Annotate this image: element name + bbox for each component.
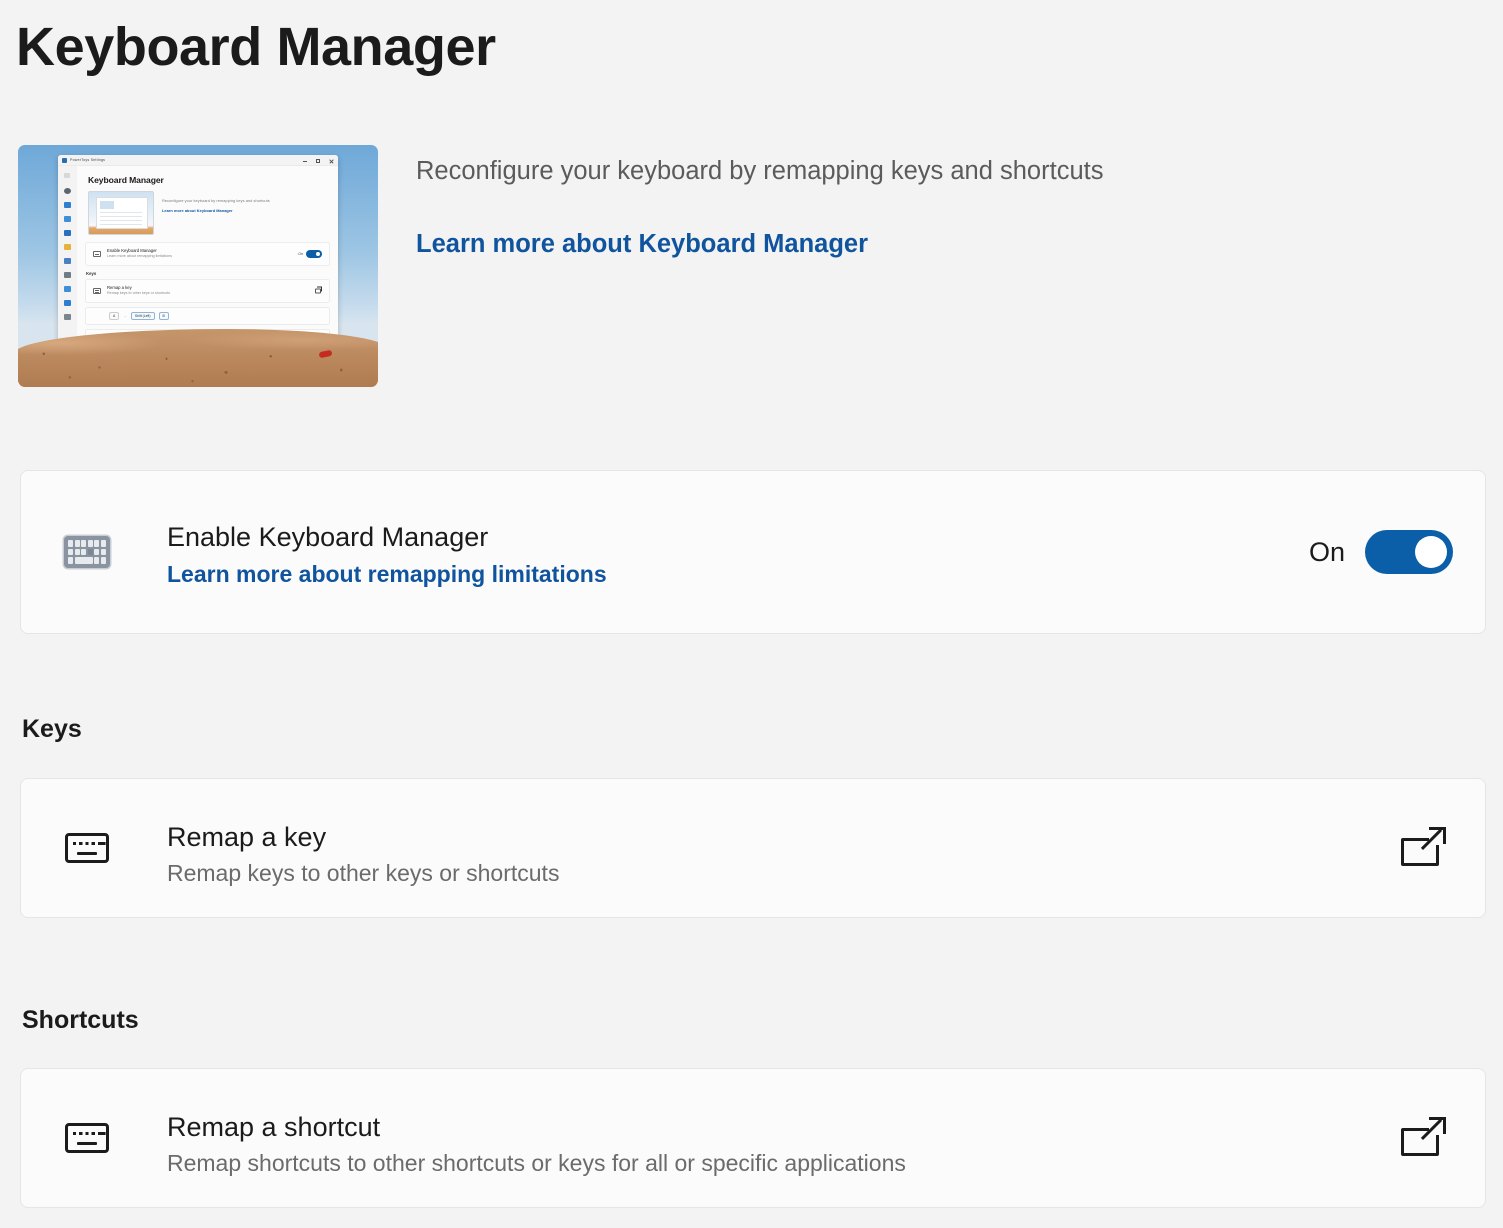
keyboard-icon <box>59 826 115 870</box>
remap-a-key-subtitle: Remap keys to other keys or shortcuts <box>167 860 559 888</box>
preview-hero-description: Reconfigure your keyboard by remapping k… <box>162 198 270 203</box>
preview-nav-item-7-icon <box>64 286 71 292</box>
preview-key-to-2: B <box>159 312 169 320</box>
remap-a-shortcut-title: Remap a shortcut <box>167 1111 380 1143</box>
preview-nav-item-1-icon <box>64 202 71 208</box>
preview-titlebar: PowerToys Settings <box>58 155 338 166</box>
preview-nav-item-4-icon <box>64 244 71 250</box>
enable-keyboard-manager-label: Enable Keyboard Manager <box>167 521 488 553</box>
preview-nav-hamburger-icon <box>64 173 70 178</box>
preview-nav-item-5-icon <box>64 258 71 264</box>
preview-hero-image <box>88 191 154 235</box>
preview-key-to-1: Shift (Left) <box>131 312 155 320</box>
overview-section: PowerToys Settings <box>18 145 1488 393</box>
preview-hero-link: Learn more about Keyboard Manager <box>162 208 270 213</box>
preview-enable-link: Learn more about remapping limitations <box>107 254 322 260</box>
remap-a-key-title: Remap a key <box>167 821 326 853</box>
preview-nav-item-8-icon <box>64 300 71 306</box>
remap-a-key-card[interactable]: Remap a key Remap keys to other keys or … <box>20 778 1486 918</box>
preview-background-desert <box>18 329 378 387</box>
preview-maximize-icon <box>316 159 320 163</box>
preview-nav-keyboard-manager-icon <box>64 272 71 278</box>
preview-nav-general-icon <box>64 188 71 194</box>
module-preview-image: PowerToys Settings <box>18 145 378 387</box>
preview-toggle-label: On <box>298 252 303 256</box>
keyboard-icon <box>59 1116 115 1160</box>
section-header-shortcuts: Shortcuts <box>22 1005 139 1035</box>
section-header-keys: Keys <box>22 714 82 744</box>
preview-hero-text: Reconfigure your keyboard by remapping k… <box>162 191 270 235</box>
preview-enable-card: Enable Keyboard Manager Learn more about… <box>85 242 330 266</box>
enable-toggle-group: On <box>1309 530 1453 574</box>
preview-hero-row: Reconfigure your keyboard by remapping k… <box>88 191 330 235</box>
preview-keyboard-icon <box>93 251 101 257</box>
preview-app-icon <box>62 158 67 163</box>
preview-key-from: A <box>109 312 119 320</box>
preview-window-title: PowerToys Settings <box>70 159 105 163</box>
preview-keys-header: Keys <box>86 271 330 276</box>
preview-remap-key-subtitle: Remap keys to other keys or shortcuts <box>107 291 322 297</box>
preview-nav-item-2-icon <box>64 216 71 222</box>
preview-open-in-new-window-icon <box>315 288 321 293</box>
preview-nav-item-3-icon <box>64 230 71 236</box>
keyboard-manager-settings-page: Keyboard Manager PowerToys Settings <box>0 0 1503 1228</box>
preview-minimize-icon <box>303 159 307 163</box>
preview-heading: Keyboard Manager <box>88 175 330 185</box>
learn-more-keyboard-manager-link[interactable]: Learn more about Keyboard Manager <box>416 230 868 259</box>
open-in-new-window-icon[interactable] <box>1401 1118 1445 1158</box>
remap-a-shortcut-subtitle: Remap shortcuts to other shortcuts or ke… <box>167 1150 906 1178</box>
page-title: Keyboard Manager <box>16 18 496 77</box>
toggle-state-label: On <box>1309 539 1345 566</box>
remap-a-shortcut-card[interactable]: Remap a shortcut Remap shortcuts to othe… <box>20 1068 1486 1208</box>
preview-key-row: A → Shift (Left) B <box>85 307 330 325</box>
preview-remap-key-card: Remap a key Remap keys to other keys or … <box>85 279 330 303</box>
learn-more-remapping-limitations-link[interactable]: Learn more about remapping limitations <box>167 561 607 589</box>
keyboard-icon <box>59 530 115 574</box>
preview-key-arrow: → <box>123 314 127 318</box>
preview-keyboard-icon <box>93 288 101 294</box>
preview-close-icon <box>329 159 333 163</box>
preview-window-buttons <box>303 159 333 163</box>
preview-nav-item-9-icon <box>64 314 71 320</box>
preview-enable-toggle <box>306 250 322 258</box>
module-description: Reconfigure your keyboard by remapping k… <box>416 156 1103 187</box>
open-in-new-window-icon[interactable] <box>1401 828 1445 868</box>
enable-keyboard-manager-card[interactable]: Enable Keyboard Manager Learn more about… <box>20 470 1486 634</box>
toggle-knob <box>1415 536 1447 568</box>
enable-keyboard-manager-toggle[interactable] <box>1365 530 1453 574</box>
